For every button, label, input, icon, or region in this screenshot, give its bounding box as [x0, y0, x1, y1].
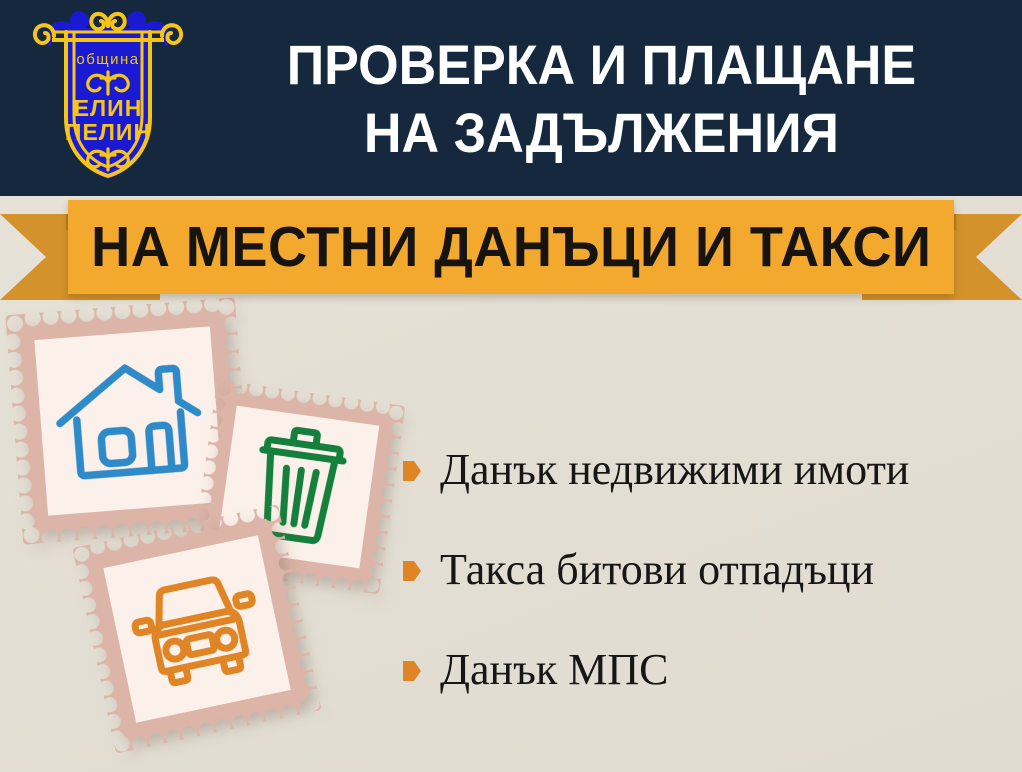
list-item[interactable]: Данък недвижими имоти	[402, 420, 1012, 520]
ribbon-label: НА МЕСТНИ ДАНЪЦИ И ТАКСИ	[91, 218, 931, 276]
list-item-label: Такса битови отпадъци	[440, 545, 874, 595]
municipality-coat-of-arms-icon: община ЕЛИН ПЕЛИН	[22, 6, 194, 190]
page-title: ПРОВЕРКА И ПЛАЩАНЕ НА ЗАДЪЛЖЕНИЯ	[196, 16, 1006, 182]
crest-name-line-2: ПЕЛИН	[65, 119, 151, 145]
arrow-pentagon-bullet-icon	[402, 459, 422, 483]
subtitle-ribbon: НА МЕСТНИ ДАНЪЦИ И ТАКСИ	[0, 196, 1022, 312]
list-item[interactable]: Такса битови отпадъци	[402, 520, 1012, 620]
arrow-pentagon-bullet-icon	[402, 559, 422, 583]
ribbon-band: НА МЕСТНИ ДАНЪЦИ И ТАКСИ	[68, 200, 954, 294]
arrow-pentagon-bullet-icon	[402, 659, 422, 683]
poster-canvas: община ЕЛИН ПЕЛИН	[0, 0, 1022, 772]
crest-top-label: община	[76, 51, 139, 68]
header-bar: община ЕЛИН ПЕЛИН	[0, 0, 1022, 196]
stamp-cards-group	[0, 300, 400, 772]
stamp-card-car	[72, 504, 321, 753]
list-item-label: Данък недвижими имоти	[440, 445, 909, 495]
list-item-label: Данък МПС	[440, 645, 668, 695]
page-title-line-1: ПРОВЕРКА И ПЛАЩАНЕ	[286, 31, 915, 99]
tax-types-list: Данък недвижими имоти Такса битови отпад…	[402, 420, 1012, 720]
crest-name-line-1: ЕЛИН	[74, 95, 143, 121]
list-item[interactable]: Данък МПС	[402, 620, 1012, 720]
page-title-line-2: НА ЗАДЪЛЖЕНИЯ	[363, 99, 838, 167]
